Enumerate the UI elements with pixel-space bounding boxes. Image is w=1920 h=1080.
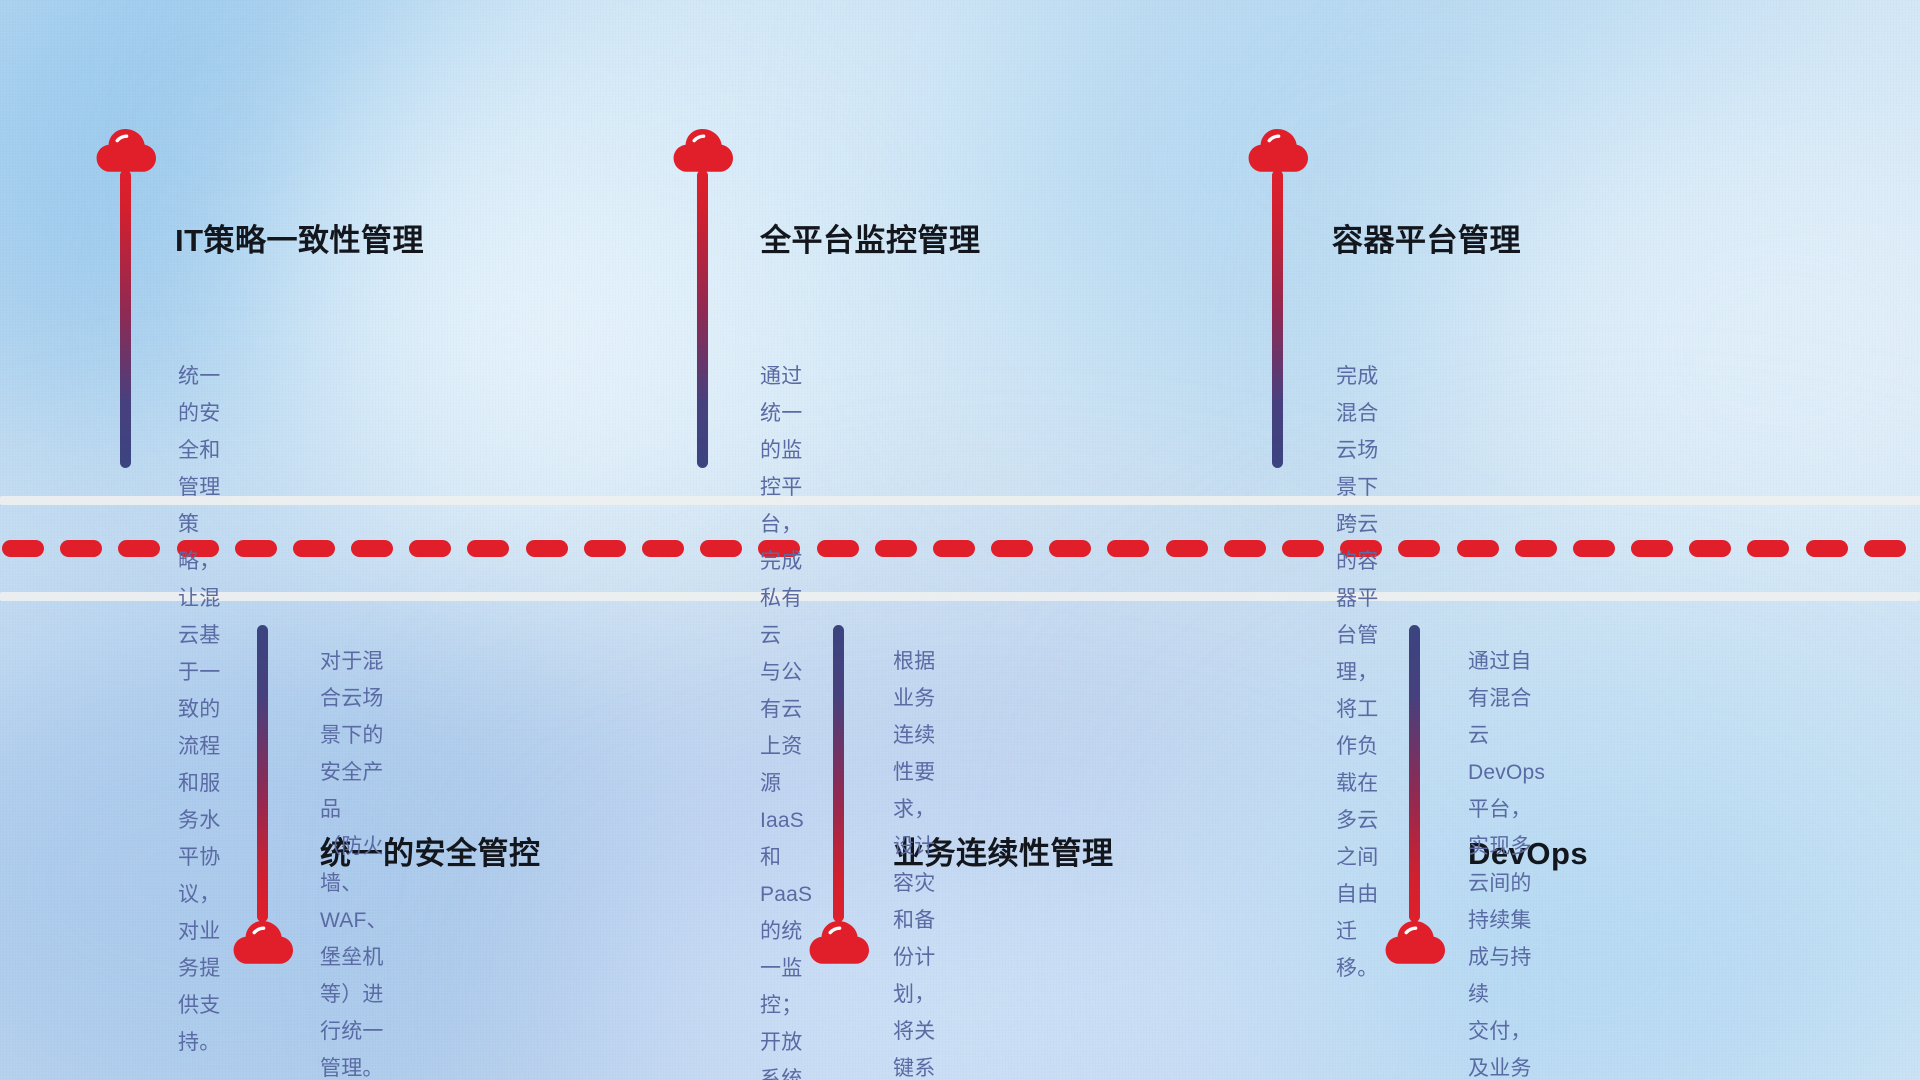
milestone-description: 通过自有混合云DevOps平台， 实现多云间的持续集成与持续 交付，及业务的快速… xyxy=(1468,643,1545,1080)
road-dash xyxy=(1689,540,1731,557)
road-dash xyxy=(1457,540,1499,557)
milestone-title: 全平台监控管理 xyxy=(760,225,981,256)
road-dash xyxy=(1166,540,1208,557)
road-dash xyxy=(1224,540,1266,557)
road-dash xyxy=(817,540,859,557)
milestone-stem xyxy=(833,625,844,922)
road-dash xyxy=(933,540,975,557)
cloud-icon xyxy=(672,128,734,172)
cloud-icon xyxy=(232,920,294,964)
road-dash xyxy=(409,540,451,557)
road-dash xyxy=(642,540,684,557)
road-dash xyxy=(526,540,568,557)
road-dash xyxy=(351,540,393,557)
road-dash xyxy=(1282,540,1324,557)
milestone-title: IT策略一致性管理 xyxy=(175,225,424,256)
road-dash xyxy=(991,540,1033,557)
road-dash xyxy=(118,540,160,557)
road-center-dashes xyxy=(0,540,1920,557)
cloud-icon xyxy=(808,920,870,964)
road-dash xyxy=(1573,540,1615,557)
road-dash xyxy=(1398,540,1440,557)
milestone-stem xyxy=(257,625,268,922)
road-dash xyxy=(584,540,626,557)
milestone-description: 完成混合云场景下跨云的容器平 台管理，将工作负载在多云之间 自由迁移。 xyxy=(1336,358,1378,987)
milestone-stem xyxy=(120,170,131,468)
road-dash xyxy=(700,540,742,557)
milestone-description: 对于混合云场景下的安全产品 （防火墙、WAF、堡垒机等）进 行统一管理。 xyxy=(320,643,388,1080)
milestone-stem xyxy=(697,170,708,468)
milestone-stem xyxy=(1272,170,1283,468)
road-dash xyxy=(1515,540,1557,557)
infographic-canvas: IT策略一致性管理统一的安全和管理策略，让混 云基于一致的流程和服务水平协 议，… xyxy=(0,0,1920,1080)
milestone-description: 根据业务连续性要求，设计容灾 和备份计划，将关键系统备份至 线上/线下，并定期校… xyxy=(893,643,935,1080)
road-dash xyxy=(2,540,44,557)
milestone-description: 统一的安全和管理策略，让混 云基于一致的流程和服务水平协 议，对业务提供支持。 xyxy=(178,358,220,1061)
road-dash xyxy=(1747,540,1789,557)
milestone-stem xyxy=(1409,625,1420,922)
road-edge-bottom xyxy=(0,592,1920,601)
road-dash xyxy=(60,540,102,557)
road-dash xyxy=(1631,540,1673,557)
road-dash xyxy=(1049,540,1091,557)
road-dash xyxy=(1864,540,1906,557)
cloud-icon xyxy=(1247,128,1309,172)
road-dash xyxy=(875,540,917,557)
road-dash xyxy=(293,540,335,557)
road-dash xyxy=(235,540,277,557)
road-dash xyxy=(467,540,509,557)
road-dash xyxy=(1806,540,1848,557)
road-dash xyxy=(1107,540,1149,557)
cloud-icon xyxy=(95,128,157,172)
road-edge-top xyxy=(0,496,1920,505)
milestone-description: 通过统一的监控平台，完成私有云 与公有云上资源IaaS和PaaS的统 一监控；开… xyxy=(760,358,812,1080)
cloud-icon xyxy=(1384,920,1446,964)
milestone-title: 容器平台管理 xyxy=(1332,225,1521,256)
